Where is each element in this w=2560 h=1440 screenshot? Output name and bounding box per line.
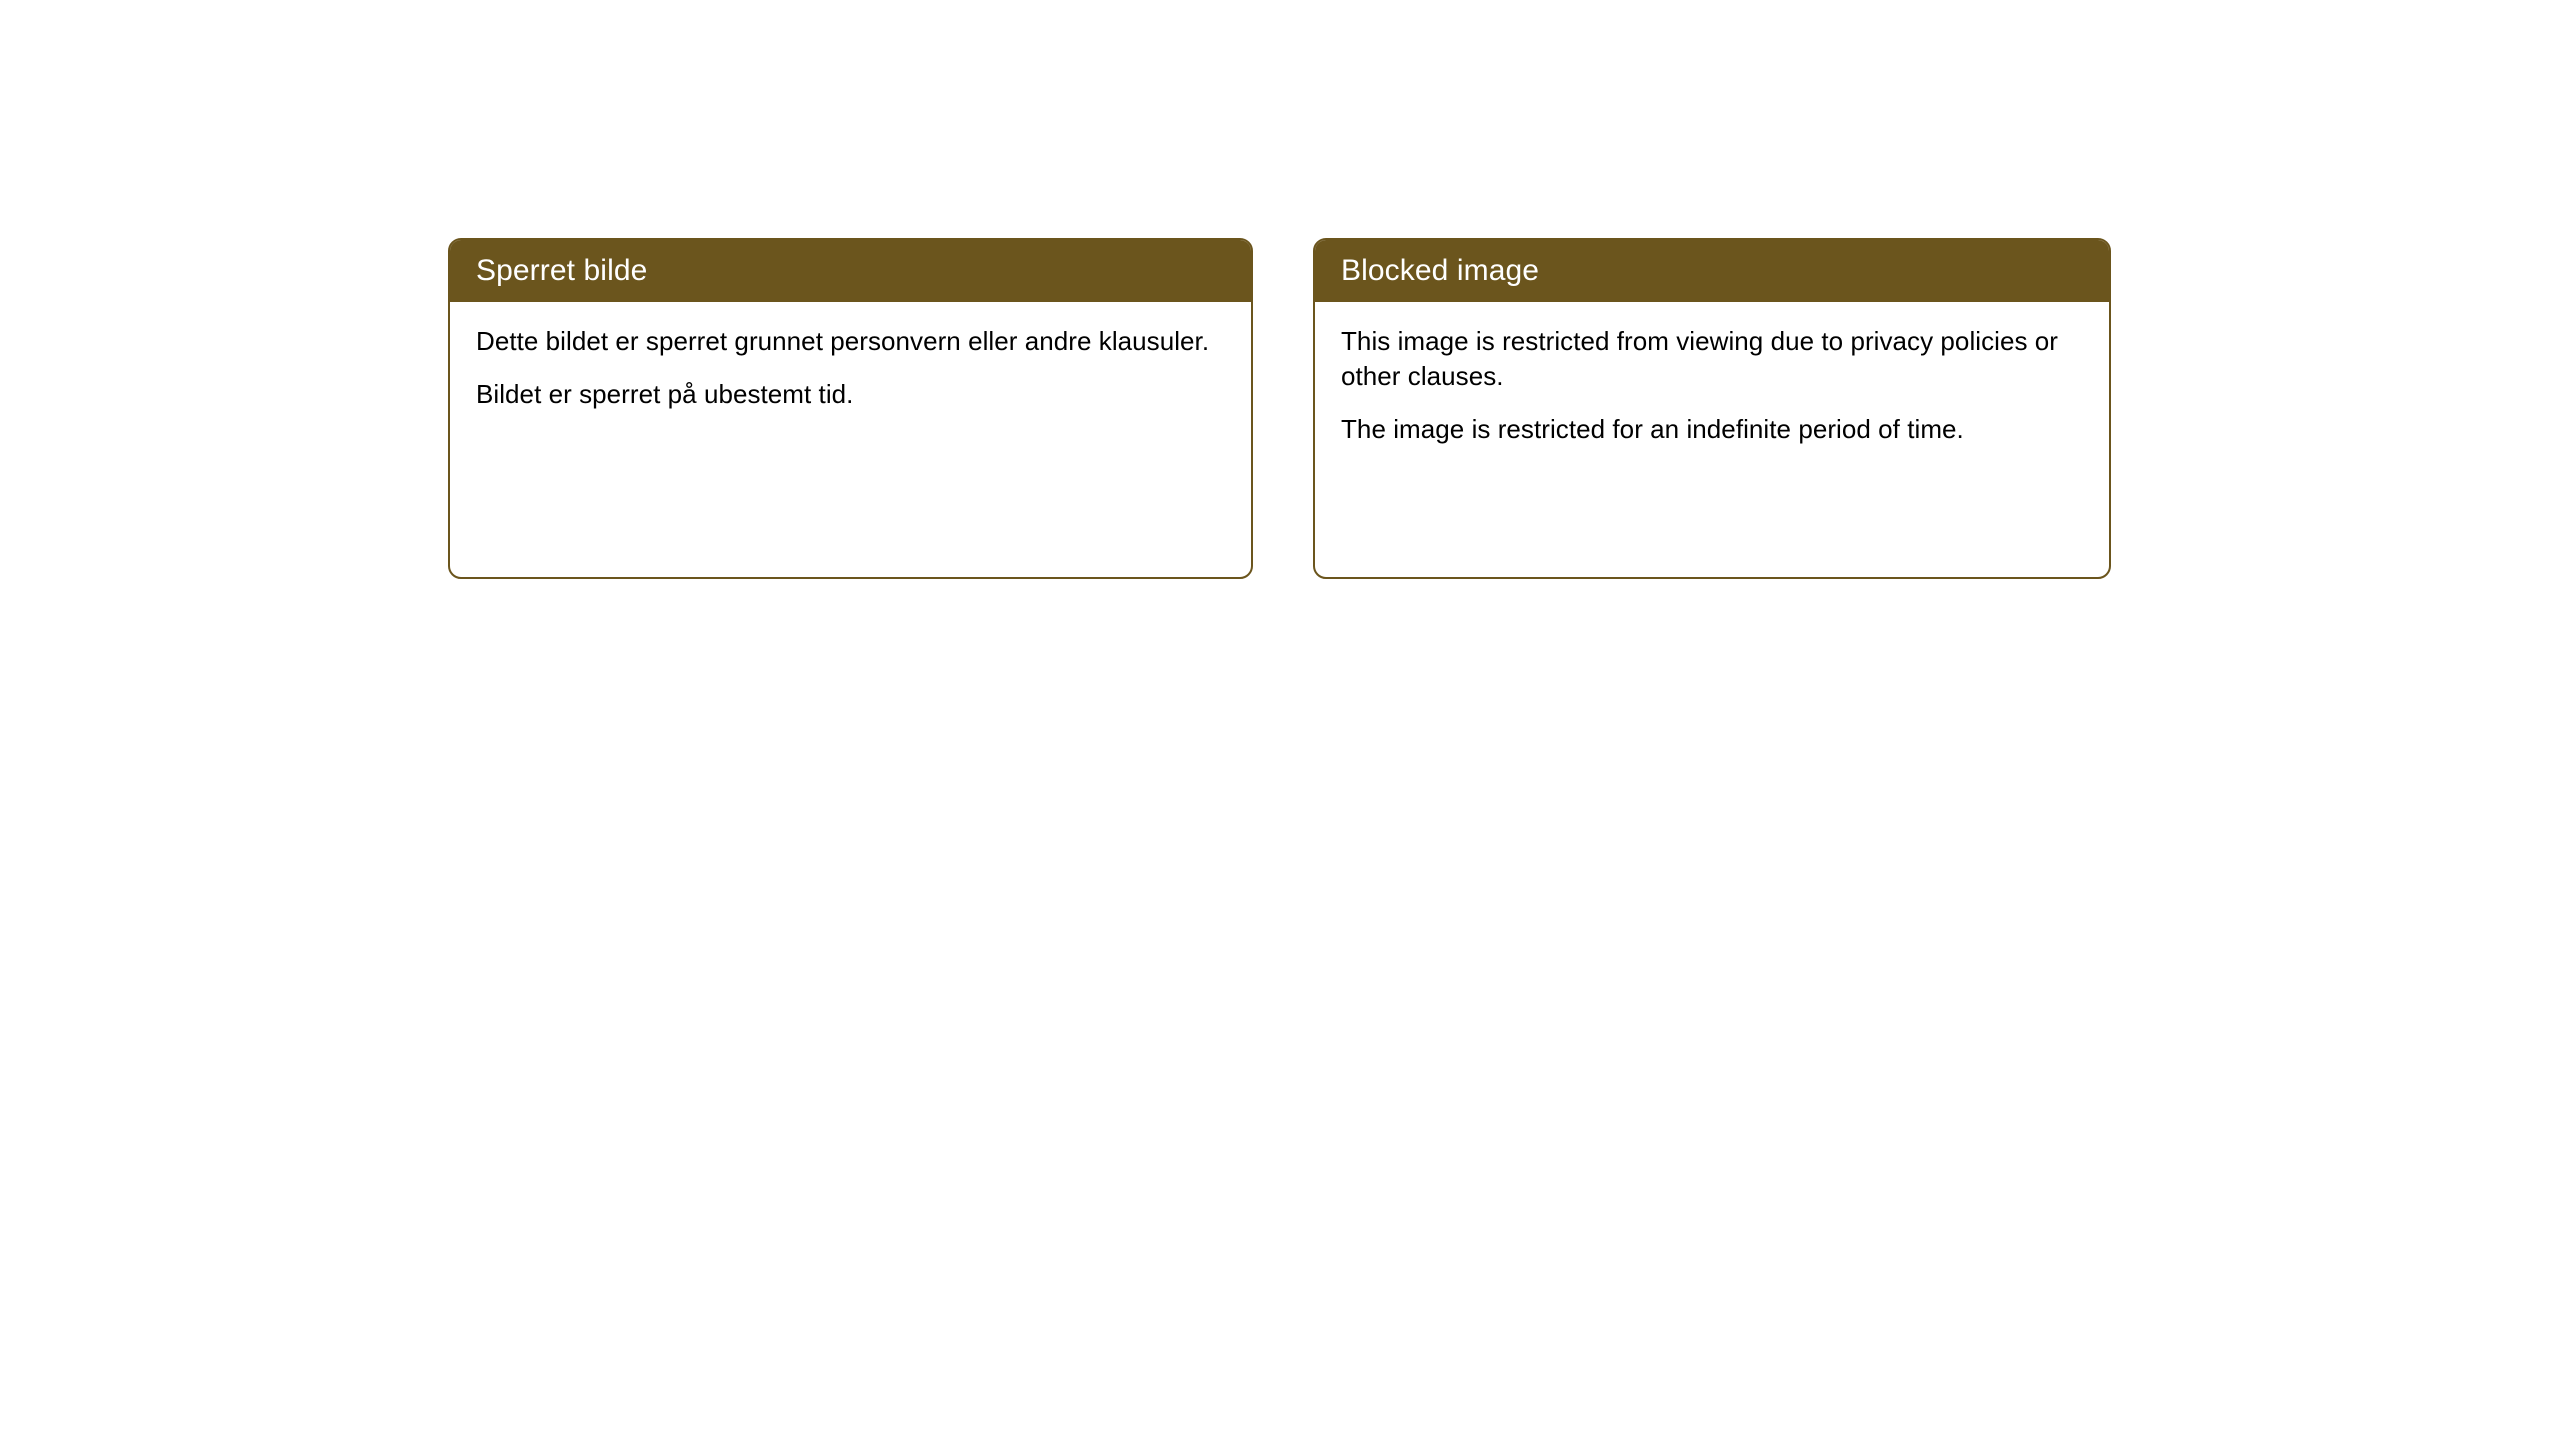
card-header-no: Sperret bilde: [450, 240, 1251, 302]
card-title-en: Blocked image: [1341, 254, 1539, 288]
card-title-no: Sperret bilde: [476, 254, 647, 288]
card-header-en: Blocked image: [1315, 240, 2109, 302]
card-body-en: This image is restricted from viewing du…: [1315, 302, 2109, 447]
page-canvas: Sperret bilde Dette bildet er sperret gr…: [0, 0, 2560, 1440]
card-body-no: Dette bildet er sperret grunnet personve…: [450, 302, 1251, 412]
card-paragraph-duration-en: The image is restricted for an indefinit…: [1341, 412, 2085, 447]
card-paragraph-duration-no: Bildet er sperret på ubestemt tid.: [476, 377, 1227, 412]
blocked-image-notice-card-en: Blocked image This image is restricted f…: [1313, 238, 2111, 579]
blocked-image-notice-card-no: Sperret bilde Dette bildet er sperret gr…: [448, 238, 1253, 579]
card-paragraph-reason-en: This image is restricted from viewing du…: [1341, 324, 2085, 394]
card-paragraph-reason-no: Dette bildet er sperret grunnet personve…: [476, 324, 1227, 359]
